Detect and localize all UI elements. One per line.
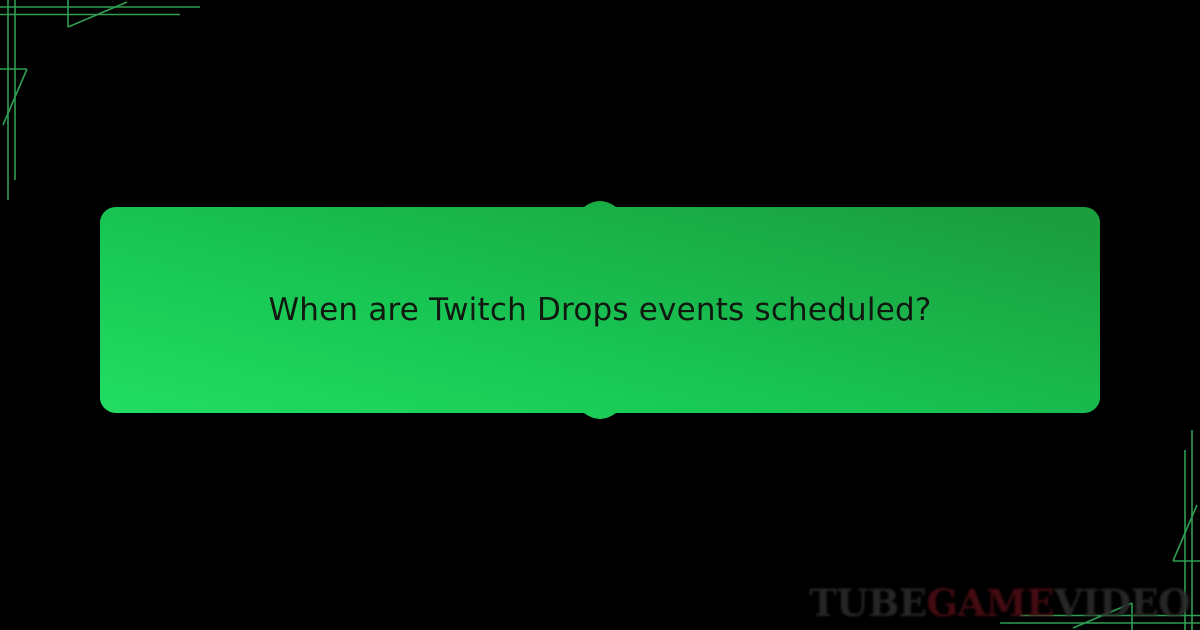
watermark-part-tube: TUBE — [809, 581, 926, 625]
question-banner: When are Twitch Drops events scheduled? — [100, 190, 1100, 430]
page-canvas: When are Twitch Drops events scheduled? … — [0, 0, 1200, 630]
question-text: When are Twitch Drops events scheduled? — [100, 190, 1100, 430]
watermark-part-game: GAME — [926, 581, 1053, 625]
watermark: TUBEGAMEVIDEO — [809, 585, 1190, 622]
watermark-part-video: VIDEO — [1054, 581, 1190, 625]
